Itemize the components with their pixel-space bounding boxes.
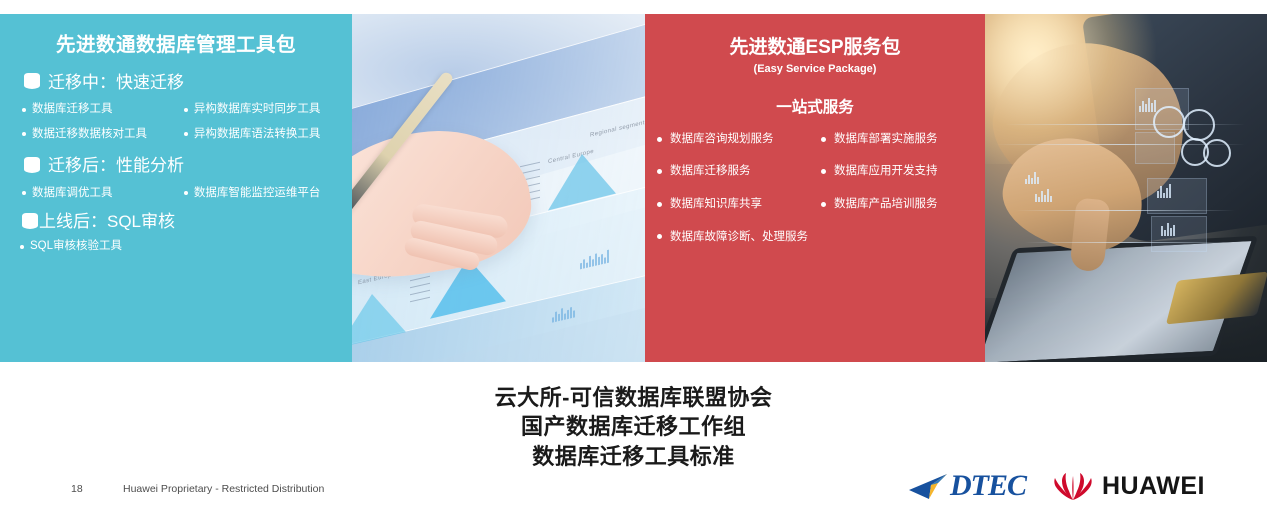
teal-section-label: 上线后：SQL审核 (39, 213, 175, 232)
list-item-label: 数据库迁移服务 (670, 165, 751, 178)
photo-hologram-panel (1151, 216, 1207, 252)
list-item-label: 数据库迁移工具 (32, 103, 113, 116)
list-item-label: 数据库应用开发支持 (834, 165, 938, 178)
huawei-flower-icon (1052, 471, 1094, 501)
list-item-label: 数据库故障诊断、处理服务 (670, 231, 808, 244)
red-panel: 先进数通ESP服务包 (Easy Service Package) 一站式服务 … (645, 14, 985, 362)
bullet-dot-icon (184, 191, 188, 195)
list-item: 数据库部署实施服务 (821, 133, 985, 146)
bullet-dot-icon (821, 137, 826, 142)
confidentiality-notice: Huawei Proprietary - Restricted Distribu… (123, 483, 324, 495)
huawei-wordmark: HUAWEI (1102, 472, 1205, 501)
list-item-label: 数据库咨询规划服务 (670, 133, 774, 146)
photo-hologram-ring (1183, 109, 1215, 141)
photo-hologram-line (1015, 210, 1235, 211)
bullet-dot-icon (657, 137, 662, 142)
bullet-dot-icon (20, 245, 24, 249)
teal-column-right: 数据库智能监控运维平台 (178, 187, 342, 200)
photo-hologram-ring (1153, 106, 1185, 138)
teal-column-left: 数据库迁移工具 数据迁移数据核对工具 (10, 103, 178, 140)
database-icon (24, 73, 40, 92)
teal-section-items-after-migration: 数据库调优工具 数据库智能监控运维平台 (10, 187, 342, 200)
list-item-label: 异构数据库语法转换工具 (194, 128, 321, 141)
teal-section-items-post-launch: SQL审核核验工具 (20, 240, 342, 253)
banner-band: 先进数通数据库管理工具包 迁移中：快速迁移 数据库迁移工具 数据迁移数据核对工具 (0, 14, 1267, 362)
dtec-wordmark: DTEC (950, 469, 1026, 503)
headline-block: 云大所-可信数据库联盟协会 国产数据库迁移工作组 数据库迁移工具标准 (0, 383, 1267, 471)
bullet-dot-icon (22, 132, 26, 136)
photo-hologram-bars (1025, 168, 1039, 184)
list-item: 数据库迁移工具 (10, 103, 178, 116)
huawei-logo: HUAWEI (1052, 471, 1205, 501)
photo-hologram-bars (1035, 186, 1052, 202)
bullet-dot-icon (657, 169, 662, 174)
red-panel-subtitle: (Easy Service Package) (645, 63, 985, 75)
list-item-label: 数据库产品培训服务 (834, 198, 938, 211)
list-item: 异构数据库语法转换工具 (178, 128, 342, 141)
photo-hologram-bars (1157, 182, 1171, 198)
red-column-left: 数据库咨询规划服务 数据库迁移服务 数据库知识库共享 (657, 133, 821, 231)
list-item: 数据库调优工具 (10, 187, 178, 200)
photo-hologram-line (1005, 124, 1245, 125)
list-item-label: 异构数据库实时同步工具 (194, 103, 321, 116)
list-item-label: 数据库部署实施服务 (834, 133, 938, 146)
red-column-right: 数据库部署实施服务 数据库应用开发支持 数据库产品培训服务 (821, 133, 985, 231)
list-item: 异构数据库实时同步工具 (178, 103, 342, 116)
photo-hologram-bars (1139, 96, 1156, 112)
logo-row: DTEC HUAWEI (907, 469, 1205, 503)
bullet-dot-icon (821, 202, 826, 207)
list-item: 数据库应用开发支持 (821, 165, 985, 178)
teal-column-left: 数据库调优工具 (10, 187, 178, 200)
teal-section-heading-post-launch: 上线后：SQL审核 (22, 213, 342, 232)
teal-section-label: 迁移中：快速迁移 (48, 74, 184, 93)
right-photo-tablet-touch (985, 14, 1267, 362)
bullet-dot-icon (657, 202, 662, 207)
photo-hologram-line (995, 144, 1245, 145)
dtec-arrow-icon (907, 471, 953, 501)
database-icon (24, 157, 40, 176)
teal-column-right: 异构数据库实时同步工具 异构数据库语法转换工具 (178, 103, 342, 140)
list-item-label: 数据库调优工具 (32, 187, 113, 200)
teal-section-label: 迁移后：性能分析 (48, 157, 184, 176)
photo-hologram-panel (1147, 178, 1207, 214)
list-item: 数据迁移数据核对工具 (10, 128, 178, 141)
list-item: 数据库智能监控运维平台 (178, 187, 342, 200)
teal-panel: 先进数通数据库管理工具包 迁移中：快速迁移 数据库迁移工具 数据迁移数据核对工具 (0, 14, 352, 362)
list-item: 数据库知识库共享 (657, 198, 821, 211)
database-icon (22, 213, 38, 232)
bullet-dot-icon (184, 108, 188, 112)
page-number: 18 (71, 483, 83, 495)
bullet-dot-icon (22, 108, 26, 112)
list-item: 数据库产品培训服务 (821, 198, 985, 211)
red-panel-tagline: 一站式服务 (645, 95, 985, 117)
centre-photo-charts-handwriting: Regional segments Central Europe West Eu… (352, 14, 645, 362)
bullet-dot-icon (657, 234, 662, 239)
teal-panel-title: 先进数通数据库管理工具包 (10, 34, 342, 57)
list-item: 数据库咨询规划服务 (657, 133, 821, 146)
list-item: 数据库迁移服务 (657, 165, 821, 178)
teal-section-heading-after-migration: 迁移后：性能分析 (24, 157, 342, 176)
headline-line-2: 国产数据库迁移工作组 (0, 412, 1267, 441)
dtec-logo: DTEC (907, 469, 1026, 503)
teal-section-items-migrating: 数据库迁移工具 数据迁移数据核对工具 异构数据库实时同步工具 异构数据库语法转换… (10, 103, 342, 140)
bullet-dot-icon (184, 132, 188, 136)
list-item-label: 数据库智能监控运维平台 (194, 187, 321, 200)
bullet-dot-icon (22, 191, 26, 195)
list-item-label: 数据库知识库共享 (670, 198, 762, 211)
headline-line-3: 数据库迁移工具标准 (0, 442, 1267, 471)
red-panel-service-list: 数据库咨询规划服务 数据库迁移服务 数据库知识库共享 数据库部署实施服务 (645, 133, 985, 231)
list-item: 数据库故障诊断、处理服务 (657, 231, 985, 244)
list-item-label: SQL审核核验工具 (30, 240, 122, 253)
red-panel-title: 先进数通ESP服务包 (645, 36, 985, 60)
bullet-dot-icon (821, 169, 826, 174)
list-item-label: 数据迁移数据核对工具 (32, 128, 147, 141)
headline-line-1: 云大所-可信数据库联盟协会 (0, 383, 1267, 412)
photo-hologram-line (1025, 242, 1235, 243)
list-item: SQL审核核验工具 (20, 240, 342, 253)
teal-section-heading-migrating: 迁移中：快速迁移 (24, 73, 342, 92)
photo-hologram-bars (1161, 220, 1175, 236)
red-panel-last-item-row: 数据库故障诊断、处理服务 (645, 231, 985, 244)
